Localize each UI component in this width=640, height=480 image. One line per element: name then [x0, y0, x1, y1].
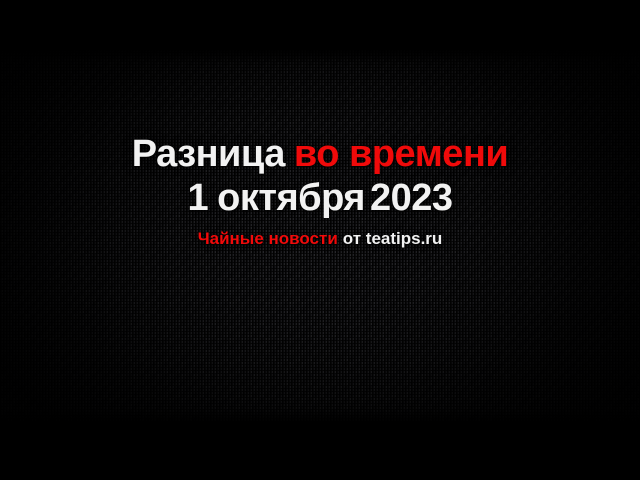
title-date-year: 2023	[370, 177, 453, 219]
title-line-2: 1октября2023	[0, 176, 640, 220]
title-line-1: Разницаво времени	[0, 132, 640, 176]
title-block: Разницаво времени 1октября2023 Чайные но…	[0, 132, 640, 249]
title-line-1-red-text: во времени	[294, 133, 508, 175]
bottom-feather-gradient	[0, 406, 640, 422]
subtitle-source-text: от teatips.ru	[343, 229, 443, 248]
subtitle-brand-text: Чайные новости	[198, 229, 338, 248]
letterbox-bar-bottom	[0, 422, 640, 480]
title-line-1-white-text: Разница	[132, 133, 285, 175]
title-date-month: октября	[217, 177, 365, 219]
video-title-card: Разницаво времени 1октября2023 Чайные но…	[0, 0, 640, 480]
subtitle-line: Чайные новостиот teatips.ru	[0, 228, 640, 249]
top-feather-gradient	[0, 50, 640, 66]
letterbox-bar-top	[0, 0, 640, 50]
title-date-day: 1	[187, 177, 208, 219]
